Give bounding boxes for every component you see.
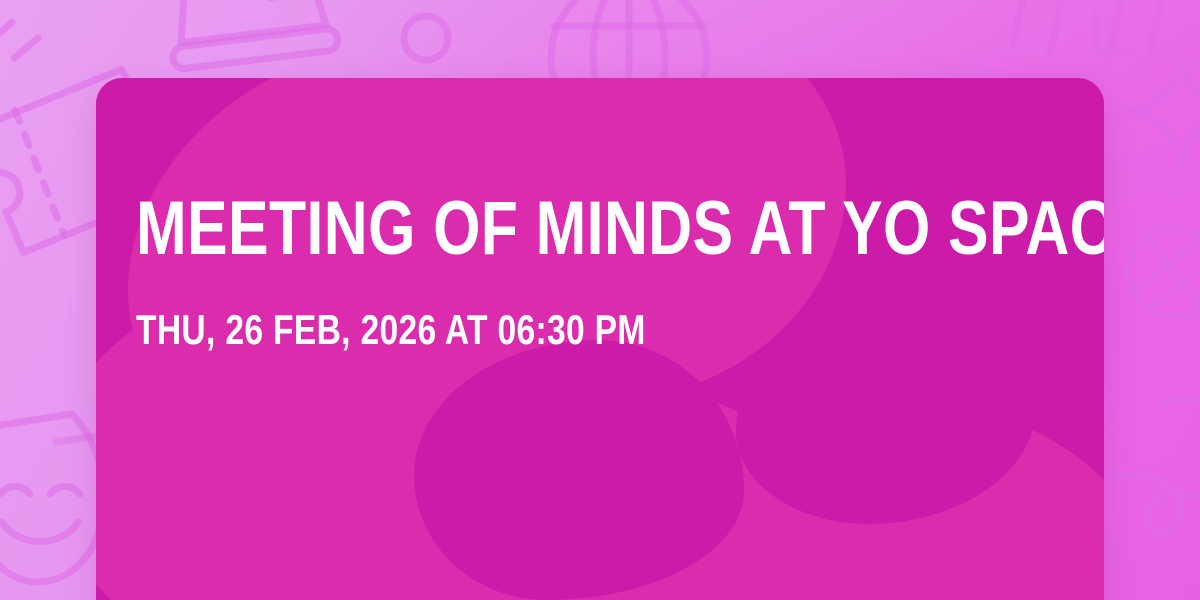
event-banner: Meeting of Minds at YO Space Thu, 26 Feb… — [0, 0, 1200, 600]
event-card: Meeting of Minds at YO Space Thu, 26 Feb… — [96, 78, 1104, 600]
event-title: Meeting of Minds at YO Space — [136, 190, 880, 268]
bracket-icon — [1086, 6, 1156, 76]
flag-icon — [1000, 0, 1180, 90]
event-text-block: Meeting of Minds at YO Space Thu, 26 Feb… — [136, 190, 1066, 352]
circle-icon — [396, 8, 456, 68]
confetti-icon — [0, 8, 74, 78]
microphone-icon — [1120, 190, 1200, 360]
laptop-icon — [156, 0, 346, 88]
event-datetime: Thu, 26 Feb, 2026 at 06:30 PM — [136, 308, 880, 352]
sparkle-star-icon — [1122, 52, 1200, 172]
